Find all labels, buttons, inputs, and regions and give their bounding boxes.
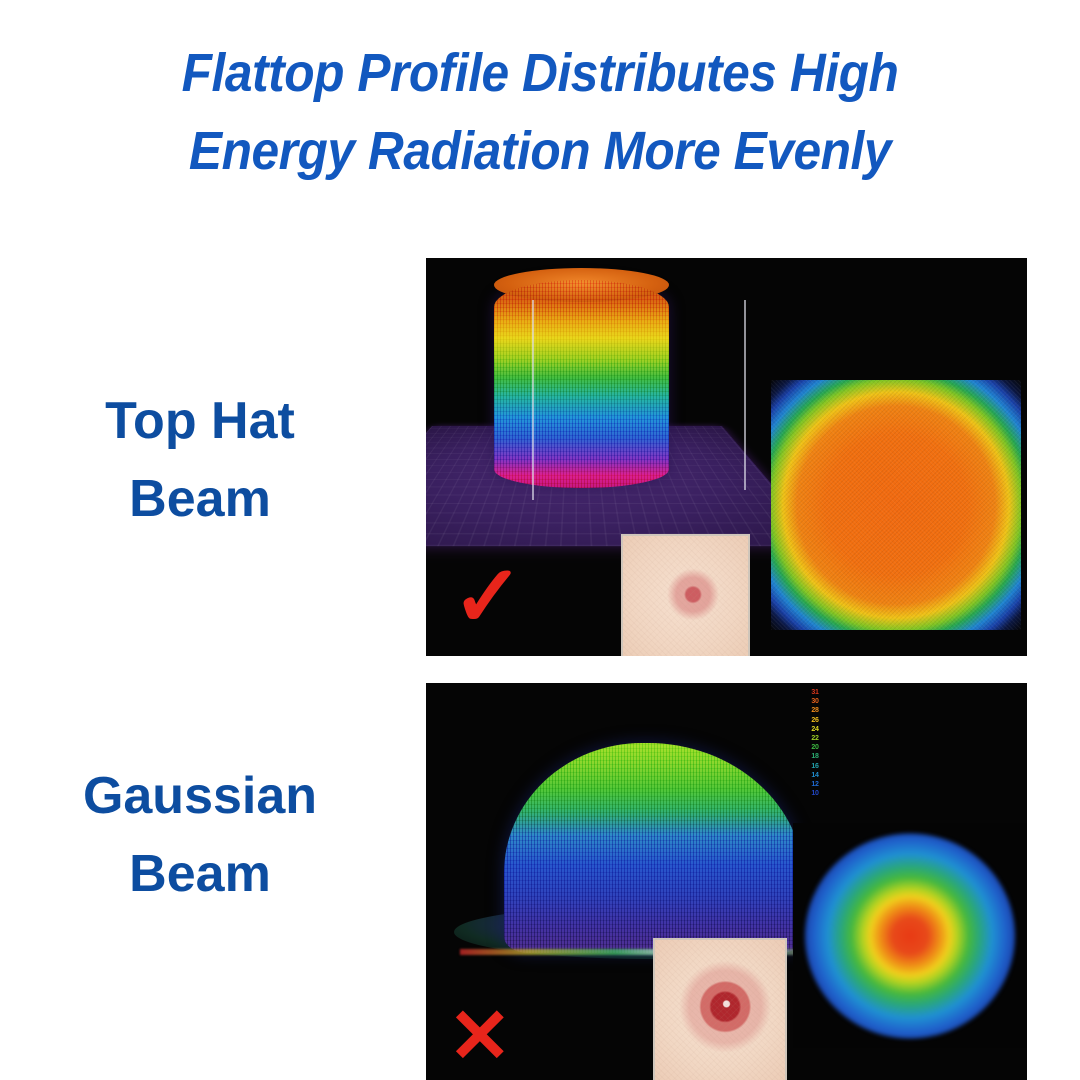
row-label-top-hat-beam-line-1: Top Hat	[10, 382, 390, 460]
row-label-gaussian-beam: Gaussian Beam	[10, 757, 390, 913]
flattop-3d-surface-plot	[494, 280, 669, 488]
skin-photo-texture	[623, 536, 748, 656]
colorbar-tick: 10	[804, 789, 826, 798]
colorbar-tick: 14	[804, 771, 826, 780]
colorbar-tick: 12	[804, 780, 826, 789]
gaussian-beam-panel: 313028262422201816141210 ✕	[426, 683, 1027, 1080]
skin-photo-gaussian-result	[653, 938, 787, 1080]
gaussian-colorbar-legend: 313028262422201816141210	[804, 688, 826, 798]
colorbar-tick: 20	[804, 743, 826, 752]
colorbar-tick: 26	[804, 716, 826, 725]
skin-photo-texture	[655, 940, 785, 1080]
top-hat-beam-panel: ✓	[426, 258, 1027, 656]
flattop-3d-gridline-right	[744, 300, 746, 490]
colorbar-tick: 18	[804, 752, 826, 761]
row-label-gaussian-beam-line-2: Beam	[10, 835, 390, 913]
row-label-top-hat-beam-line-2: Beam	[10, 460, 390, 538]
colorbar-tick: 24	[804, 725, 826, 734]
colorbar-tick: 28	[804, 706, 826, 715]
flattop-3d-gridline-left	[532, 300, 534, 500]
gaussian-2d-beam-profile	[793, 823, 1027, 1048]
page-title-line-2: Energy Radiation More Evenly	[98, 112, 981, 190]
page-title: Flattop Profile Distributes High Energy …	[60, 34, 1020, 190]
colorbar-tick: 31	[804, 688, 826, 697]
gaussian-3d-peak	[504, 743, 804, 953]
skin-photo-top-hat-result	[621, 534, 750, 656]
row-label-gaussian-beam-line-1: Gaussian	[10, 757, 390, 835]
flattop-2d-beam-profile	[771, 380, 1021, 630]
colorbar-tick: 16	[804, 762, 826, 771]
colorbar-tick: 30	[804, 697, 826, 706]
cross-mark-icon: ✕	[448, 999, 512, 1075]
check-mark-icon: ✓	[452, 554, 524, 640]
page-title-line-1: Flattop Profile Distributes High	[98, 34, 981, 112]
colorbar-tick: 22	[804, 734, 826, 743]
row-label-top-hat-beam: Top Hat Beam	[10, 382, 390, 538]
